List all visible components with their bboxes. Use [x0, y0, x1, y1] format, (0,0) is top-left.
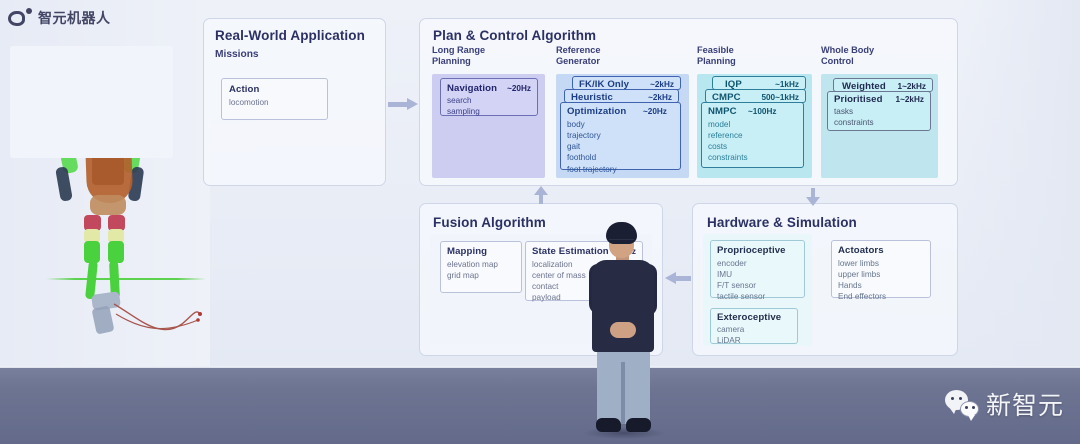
card-proprioceptive-title: Proprioceptive [717, 245, 786, 256]
card-navigation-frequency: ~20Hz [507, 84, 531, 93]
panel-title-fusion-algorithm: Fusion Algorithm [433, 215, 546, 230]
card-action-title: Action [229, 84, 259, 95]
card-fk-ik-only-title: FK/IK Only [579, 79, 629, 90]
column-label-long-range-planning: Long Range Planning [432, 45, 485, 67]
card-iqp-frequency: ~1kHz [775, 80, 799, 89]
card-actoators[interactable]: Actoators lower limbs upper limbs Hands … [831, 240, 931, 298]
card-exteroceptive-title: Exteroceptive [717, 312, 781, 323]
arrow-down-icon-plan-to-hardware [806, 188, 820, 204]
wall-shading-right [960, 0, 1080, 370]
card-navigation[interactable]: Navigation ~20Hz search sampling [440, 78, 538, 116]
column-label-reference-generator: Reference Generator [556, 45, 600, 67]
card-prioritised[interactable]: Prioritised 1~2kHz tasks constraints [827, 91, 931, 131]
panel-title-real-world-application: Real-World Application [215, 28, 365, 43]
card-nmpc-title: NMPC [708, 106, 737, 117]
sim-ground-line [46, 278, 206, 280]
column-label-whole-body-control: Whole Body Control [821, 45, 874, 67]
card-heuristic[interactable]: Heuristic ~2kHz [564, 89, 679, 103]
card-prioritised-title: Prioritised [834, 94, 883, 105]
card-optimization-title: Optimization [567, 106, 626, 117]
panel-title-hardware-simulation: Hardware & Simulation [707, 215, 857, 230]
card-fk-ik-only-frequency: ~2kHz [650, 80, 674, 89]
column-label-feasible-planning: Feasible Planning [697, 45, 736, 67]
card-optimization-frequency: ~20Hz [643, 107, 667, 116]
card-exteroceptive-items: camera LiDAR [717, 324, 744, 346]
card-proprioceptive[interactable]: Proprioceptive encoder IMU F/T sensor ta… [710, 240, 805, 298]
card-navigation-title: Navigation [447, 83, 497, 94]
label-missions: Missions [215, 49, 259, 60]
card-prioritised-items: tasks constraints [834, 106, 874, 128]
arrow-up-icon-fusion-to-plan [534, 188, 548, 204]
card-heuristic-frequency: ~2kHz [648, 93, 672, 102]
card-action-items: locomotion [229, 97, 269, 108]
card-cmpc-frequency: 500~1kHz [761, 93, 799, 102]
card-mapping[interactable]: Mapping elevation map grid map [440, 241, 522, 293]
presentation-screenshot: 智元机器人 Real-World Application Missions Ac… [0, 0, 1080, 444]
card-proprioceptive-items: encoder IMU F/T sensor tactile sensor [717, 258, 765, 303]
brand-logo: 智元机器人 [8, 8, 111, 28]
wechat-icon [945, 390, 979, 418]
card-optimization[interactable]: Optimization ~20Hz body trajectory gait … [560, 102, 681, 170]
glasses-icon [609, 239, 634, 244]
trajectory-curve-icon [112, 300, 204, 340]
card-mapping-title: Mapping [447, 246, 487, 257]
card-iqp[interactable]: IQP ~1kHz [712, 76, 806, 90]
card-mapping-items: elevation map grid map [447, 259, 498, 281]
card-navigation-items: search sampling [447, 95, 480, 117]
card-nmpc-frequency: ~100Hz [748, 107, 776, 116]
panel-title-plan-control-algorithm: Plan & Control Algorithm [433, 28, 596, 43]
presenter-person [578, 222, 670, 444]
card-weighted[interactable]: Weighted 1~2kHz [833, 78, 933, 92]
card-actoators-title: Actoators [838, 245, 884, 256]
watermark-text: 新智元 [986, 386, 1064, 422]
card-exteroceptive[interactable]: Exteroceptive camera LiDAR [710, 308, 798, 344]
brand-logo-text: 智元机器人 [38, 8, 111, 28]
card-weighted-title: Weighted [842, 81, 886, 92]
card-optimization-items: body trajectory gait foothold foot traje… [567, 119, 617, 175]
wechat-watermark: 新智元 [945, 386, 1064, 422]
card-action[interactable]: Action locomotion [221, 78, 328, 120]
card-iqp-title: IQP [725, 79, 742, 90]
card-nmpc-items: model reference costs constraints [708, 119, 748, 164]
arrow-right-icon-real-world-to-plan [388, 98, 418, 110]
agibot-logo-icon [8, 8, 32, 28]
card-heuristic-title: Heuristic [571, 92, 613, 103]
stage-floor [0, 368, 1080, 444]
card-fk-ik-only[interactable]: FK/IK Only ~2kHz [572, 76, 681, 90]
card-actoators-items: lower limbs upper limbs Hands End effect… [838, 258, 886, 303]
card-cmpc[interactable]: CMPC 500~1kHz [705, 89, 806, 103]
card-prioritised-frequency: 1~2kHz [896, 95, 924, 104]
card-nmpc[interactable]: NMPC ~100Hz model reference costs constr… [701, 102, 804, 168]
card-weighted-frequency: 1~2kHz [898, 82, 926, 91]
missions-container [10, 46, 173, 158]
card-cmpc-title: CMPC [712, 92, 741, 103]
